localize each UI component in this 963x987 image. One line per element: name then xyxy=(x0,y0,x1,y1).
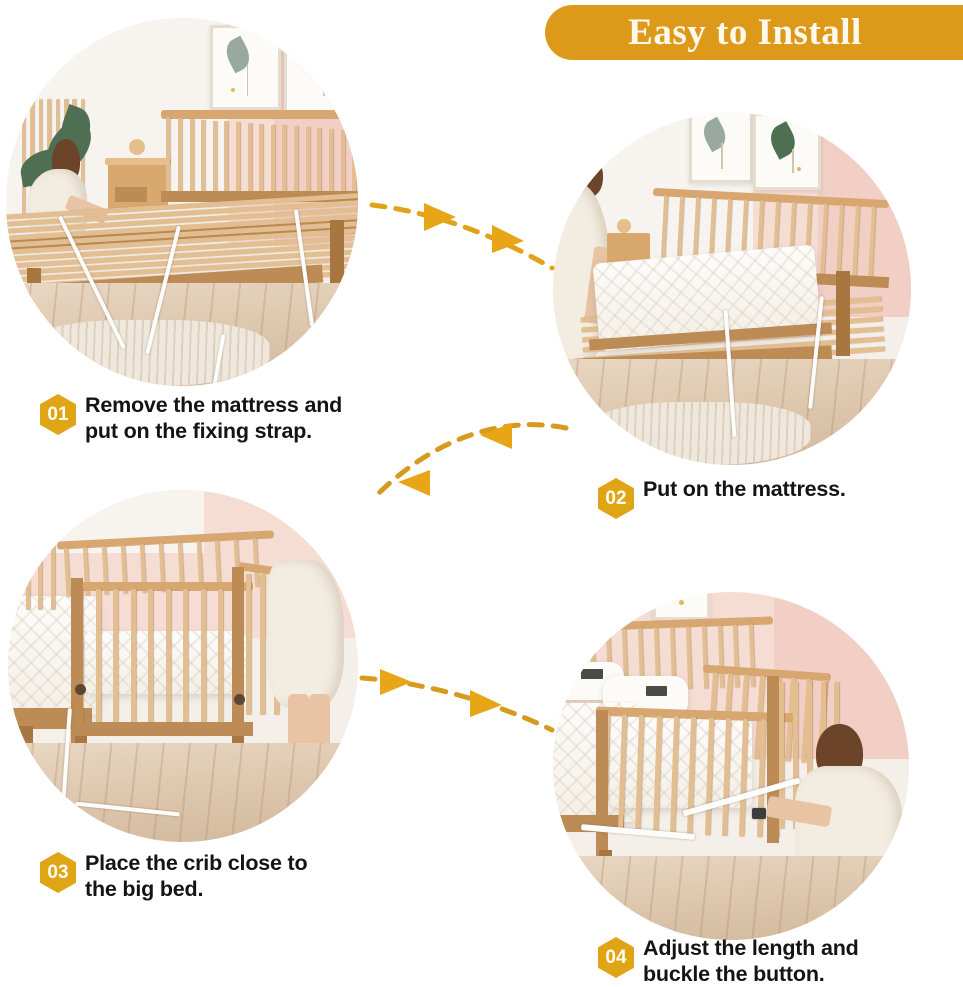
crib-height-knob xyxy=(234,694,245,705)
wall-art-left xyxy=(689,113,753,183)
strap-buckle xyxy=(752,808,766,819)
step-photo-2 xyxy=(553,113,911,465)
crib-post xyxy=(232,567,244,743)
crib-post xyxy=(71,578,83,747)
step-number-badge-2: 02 xyxy=(598,478,634,519)
step-label-2: Put on the mattress. xyxy=(643,476,846,502)
bed-leg xyxy=(836,271,850,355)
wall-art-right xyxy=(284,33,354,114)
wall-art xyxy=(653,592,710,620)
scene-place-crib xyxy=(8,490,358,842)
crib-bottom-rail xyxy=(71,722,253,736)
scene-put-on-mattress xyxy=(553,113,911,465)
arrow-step1-to-step2 xyxy=(372,203,552,268)
crib-post xyxy=(596,710,608,856)
person-dress xyxy=(267,560,344,708)
pillow-tag xyxy=(646,686,667,696)
step-label-1: Remove the mattress and put on the fixin… xyxy=(85,392,342,444)
crib-near-slats xyxy=(597,714,793,839)
step-photo-4 xyxy=(553,592,909,940)
headboard-slats xyxy=(164,117,358,198)
round-decor xyxy=(617,219,631,233)
nightstand-top xyxy=(105,158,172,165)
wall-art-right xyxy=(753,113,821,190)
wall-art-left xyxy=(210,25,280,110)
page-title: Easy to Install xyxy=(628,11,880,54)
crib-near-slats xyxy=(75,589,250,730)
header-banner: Easy to Install xyxy=(545,5,963,60)
step-3: 03 Place the crib close to the big bed. xyxy=(40,850,307,902)
floor xyxy=(553,856,909,940)
rug xyxy=(589,402,811,465)
nightstand xyxy=(108,162,168,210)
step-1: 01 Remove the mattress and put on the fi… xyxy=(40,392,342,444)
step-2: 02 Put on the mattress. xyxy=(598,476,846,519)
scene-remove-mattress xyxy=(6,18,358,386)
step-label-3: Place the crib close to the big bed. xyxy=(85,850,307,902)
arrow-step2-to-step3 xyxy=(372,423,566,500)
nightstand-shelf-items xyxy=(115,187,147,202)
scene-buckle-strap xyxy=(553,592,909,940)
step-number-badge-1: 01 xyxy=(40,394,76,435)
step-number-badge-3: 03 xyxy=(40,852,76,893)
arrow-step3-to-step4 xyxy=(362,669,552,730)
crib-height-knob xyxy=(75,684,86,695)
step-photo-1 xyxy=(6,18,358,386)
step-photo-3 xyxy=(8,490,358,842)
step-4: 04 Adjust the length and buckle the butt… xyxy=(598,935,859,987)
step-number-badge-4: 04 xyxy=(598,937,634,978)
pillow-tag xyxy=(581,669,602,679)
floor xyxy=(8,743,358,842)
step-label-4: Adjust the length and buckle the button. xyxy=(643,935,859,987)
